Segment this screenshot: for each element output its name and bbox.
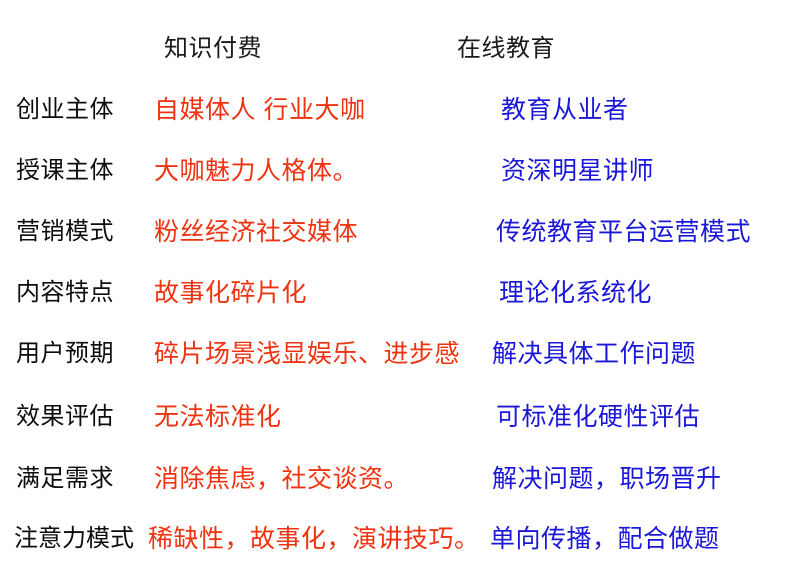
cell-online-education: 传统教育平台运营模式 (496, 212, 751, 252)
cell-paid-knowledge: 故事化碎片化 (154, 273, 307, 313)
cell-paid-knowledge: 粉丝经济社交媒体 (154, 212, 358, 252)
cell-paid-knowledge: 消除焦虑，社交谈资。 (154, 459, 409, 499)
cell-online-education: 资深明星讲师 (501, 151, 654, 191)
cell-paid-knowledge: 自媒体人 行业大咖 (154, 90, 365, 130)
table-row: 注意力模式 稀缺性，故事化，演讲技巧。 单向传播，配合做题 (0, 519, 801, 559)
cell-paid-knowledge: 大咖魅力人格体。 (154, 151, 358, 191)
column-header-online-education: 在线教育 (457, 32, 555, 66)
row-label: 注意力模式 (14, 519, 134, 559)
row-label: 营销模式 (16, 212, 114, 252)
row-label: 内容特点 (16, 273, 114, 313)
cell-online-education: 教育从业者 (501, 90, 629, 130)
table-row: 内容特点 故事化碎片化 理论化系统化 (0, 273, 801, 313)
table-row: 营销模式 粉丝经济社交媒体 传统教育平台运营模式 (0, 212, 801, 252)
table-row: 效果评估 无法标准化 可标准化硬性评估 (0, 397, 801, 437)
cell-online-education: 理论化系统化 (499, 273, 652, 313)
row-label: 授课主体 (16, 151, 114, 191)
cell-online-education: 单向传播，配合做题 (490, 519, 720, 559)
row-label: 创业主体 (16, 90, 114, 130)
cell-paid-knowledge: 无法标准化 (154, 397, 282, 437)
cell-online-education: 解决具体工作问题 (492, 334, 696, 374)
row-label: 满足需求 (16, 459, 114, 499)
cell-online-education: 解决问题，职场晋升 (492, 459, 722, 499)
cell-online-education: 可标准化硬性评估 (496, 397, 700, 437)
cell-paid-knowledge: 稀缺性，故事化，演讲技巧。 (148, 519, 480, 559)
table-row: 授课主体 大咖魅力人格体。 资深明星讲师 (0, 151, 801, 191)
row-label: 效果评估 (16, 397, 114, 437)
table-row: 创业主体 自媒体人 行业大咖 教育从业者 (0, 90, 801, 130)
table-row: 用户预期 碎片场景浅显娱乐、进步感 解决具体工作问题 (0, 334, 801, 374)
table-header-row: 知识付费 在线教育 (0, 32, 801, 66)
column-header-paid-knowledge: 知识付费 (164, 32, 262, 66)
table-row: 满足需求 消除焦虑，社交谈资。 解决问题，职场晋升 (0, 459, 801, 499)
cell-paid-knowledge: 碎片场景浅显娱乐、进步感 (154, 334, 460, 374)
comparison-table: 知识付费 在线教育 创业主体 自媒体人 行业大咖 教育从业者 授课主体 大咖魅力… (0, 0, 801, 567)
row-label: 用户预期 (16, 334, 114, 374)
